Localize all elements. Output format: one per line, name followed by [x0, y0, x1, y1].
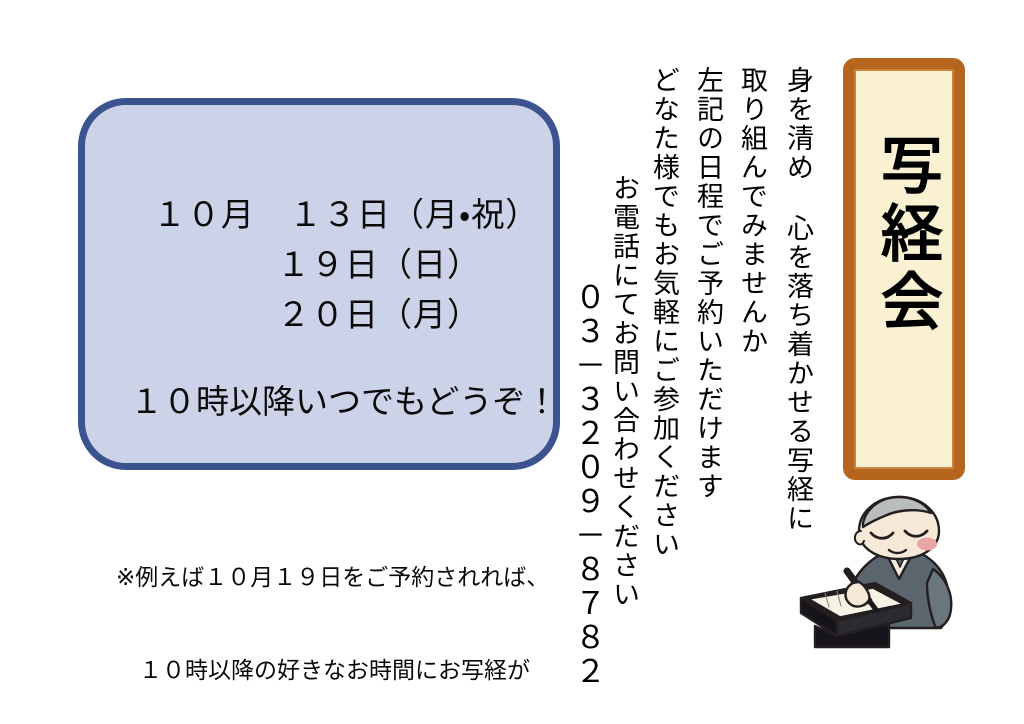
poster-canvas: １０月 １３日（月・祝） １９日（日） ２０日（月） １０時以降いつでもどうぞ！…: [0, 0, 1024, 724]
monk-cheek-blush: [917, 538, 937, 551]
title-plaque: 写経会: [843, 58, 965, 480]
schedule-date-line-1: １０月 １３日（月・祝）: [153, 188, 539, 236]
title-plaque-inner: 写経会: [854, 69, 954, 469]
monk-writing-illustration: [793, 487, 993, 652]
schedule-date-line-3: ２０日（月）: [277, 288, 481, 336]
footnote-block: ※例えば１０月１９日をご予約されれば、 １０時以降の好きなお時間にお写経が 出来…: [116, 500, 549, 724]
footnote-line-2: １０時以降の好きなお時間にお写経が: [116, 655, 549, 686]
vertical-text-column-2: 取り組んでみませんか: [738, 66, 765, 356]
schedule-box: １０月 １３日（月・祝） １９日（日） ２０日（月） １０時以降いつでもどうぞ！: [78, 98, 560, 470]
vertical-text-column-3: 左記の日程でご予約いただけます: [694, 66, 721, 501]
vertical-text-column-4: どなた様でもお気軽にご参加ください: [650, 66, 677, 559]
schedule-time-note: １０時以降いつでもどうぞ！: [130, 375, 558, 423]
vertical-text-column-1: 身を清め 心を落ち着かせる写経に: [784, 66, 811, 533]
footnote-line-1: ※例えば１０月１９日をご予約されれば、: [116, 562, 549, 593]
phone-number: ０３－３２０９－８７８２: [572, 281, 603, 689]
schedule-date-line-2: １９日（日）: [277, 238, 481, 286]
vertical-text-contact-prompt: お電話にてお問い合わせください: [610, 174, 637, 609]
poster-title: 写経会: [863, 133, 945, 337]
